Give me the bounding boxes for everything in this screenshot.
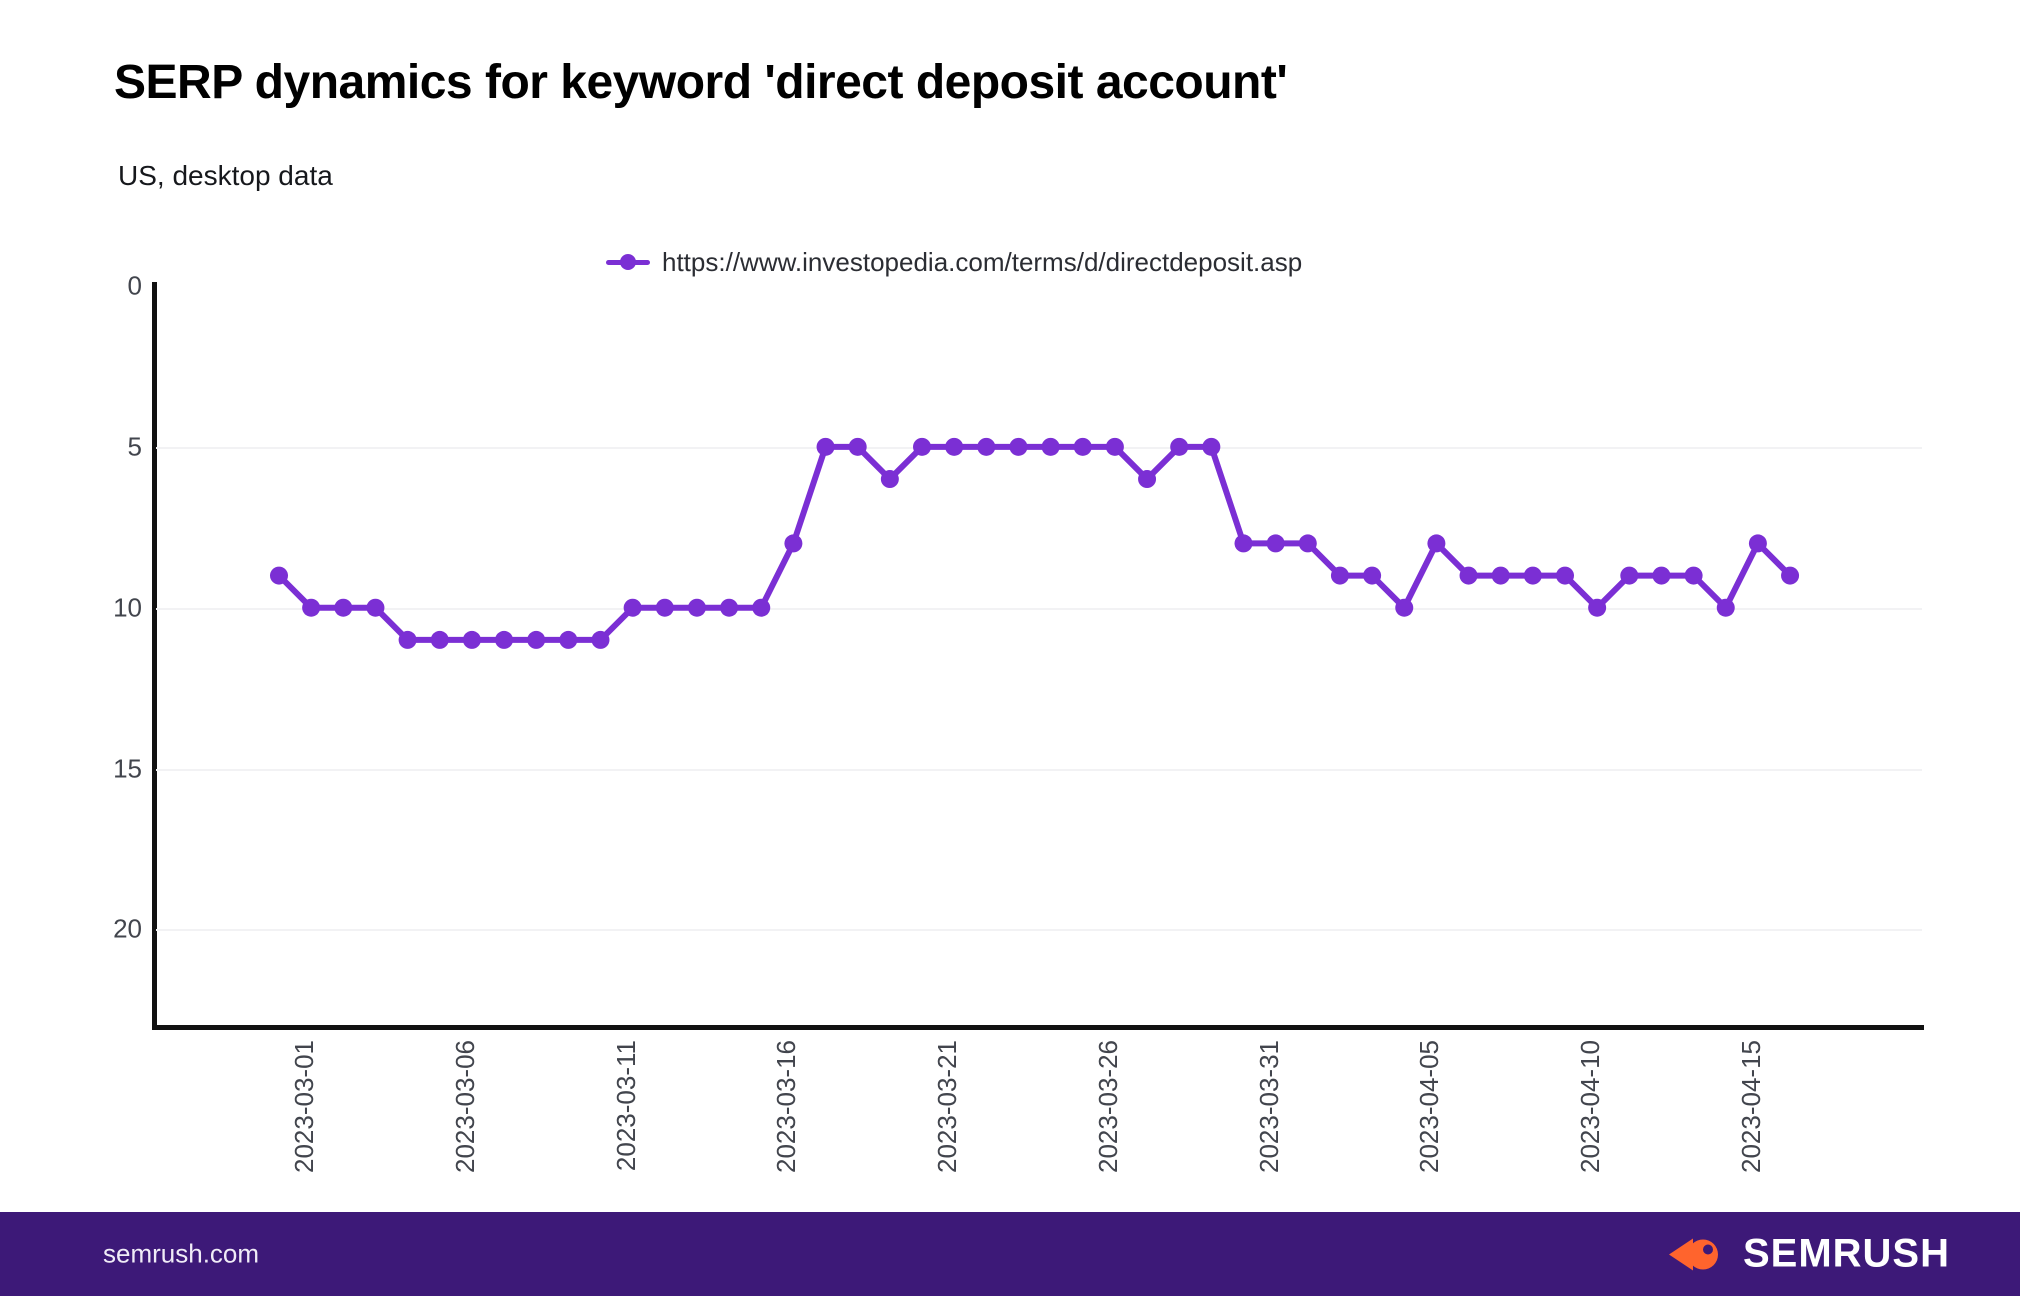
data-point[interactable] bbox=[399, 631, 417, 649]
data-point[interactable] bbox=[784, 534, 802, 552]
x-tick-label: 2023-03-01 bbox=[289, 1040, 320, 1173]
data-point[interactable] bbox=[463, 631, 481, 649]
data-point[interactable] bbox=[1749, 534, 1767, 552]
data-point[interactable] bbox=[720, 599, 738, 617]
semrush-wordmark: SEMRUSH bbox=[1743, 1232, 1950, 1277]
x-axis-tick-labels: 2023-03-012023-03-062023-03-112023-03-16… bbox=[156, 1040, 1922, 1230]
x-tick-label: 2023-03-21 bbox=[932, 1040, 963, 1173]
data-point[interactable] bbox=[1042, 438, 1060, 456]
data-point[interactable] bbox=[849, 438, 867, 456]
data-point[interactable] bbox=[1331, 567, 1349, 585]
x-tick-label: 2023-04-10 bbox=[1575, 1040, 1606, 1173]
series-line bbox=[279, 447, 1790, 640]
chart-subtitle: US, desktop data bbox=[118, 160, 333, 192]
data-point[interactable] bbox=[559, 631, 577, 649]
data-point[interactable] bbox=[1652, 567, 1670, 585]
data-point[interactable] bbox=[302, 599, 320, 617]
data-point[interactable] bbox=[817, 438, 835, 456]
series-line-chart bbox=[156, 286, 1922, 1026]
footer-bar: semrush.com SEMRUSH bbox=[0, 1212, 2020, 1296]
legend-marker-icon bbox=[606, 253, 650, 271]
data-point[interactable] bbox=[1781, 567, 1799, 585]
y-tick-label: 15 bbox=[72, 753, 142, 784]
data-point[interactable] bbox=[1074, 438, 1092, 456]
data-point[interactable] bbox=[1620, 567, 1638, 585]
data-point[interactable] bbox=[495, 631, 513, 649]
page-title: SERP dynamics for keyword 'direct deposi… bbox=[114, 55, 1287, 110]
data-point[interactable] bbox=[1556, 567, 1574, 585]
data-point[interactable] bbox=[977, 438, 995, 456]
data-point[interactable] bbox=[1460, 567, 1478, 585]
x-tick-label: 2023-04-15 bbox=[1736, 1040, 1767, 1173]
data-point[interactable] bbox=[624, 599, 642, 617]
data-point[interactable] bbox=[1299, 534, 1317, 552]
y-tick-label: 0 bbox=[72, 271, 142, 302]
data-point[interactable] bbox=[1138, 470, 1156, 488]
data-point[interactable] bbox=[752, 599, 770, 617]
data-point[interactable] bbox=[913, 438, 931, 456]
data-point[interactable] bbox=[1588, 599, 1606, 617]
footer-site-label: semrush.com bbox=[103, 1239, 259, 1270]
legend-item-label: https://www.investopedia.com/terms/d/dir… bbox=[662, 247, 1302, 278]
data-point[interactable] bbox=[1524, 567, 1542, 585]
x-tick-label: 2023-03-26 bbox=[1093, 1040, 1124, 1173]
x-tick-label: 2023-03-06 bbox=[450, 1040, 481, 1173]
data-point[interactable] bbox=[1395, 599, 1413, 617]
data-point[interactable] bbox=[527, 631, 545, 649]
x-tick-label: 2023-03-11 bbox=[611, 1040, 642, 1171]
data-point[interactable] bbox=[1106, 438, 1124, 456]
data-point[interactable] bbox=[1717, 599, 1735, 617]
data-point[interactable] bbox=[270, 567, 288, 585]
chart-legend: https://www.investopedia.com/terms/d/dir… bbox=[606, 245, 1302, 279]
data-point[interactable] bbox=[656, 599, 674, 617]
data-point[interactable] bbox=[1170, 438, 1188, 456]
x-tick-label: 2023-04-05 bbox=[1414, 1040, 1445, 1173]
data-point[interactable] bbox=[1685, 567, 1703, 585]
data-point[interactable] bbox=[1202, 438, 1220, 456]
y-tick-label: 20 bbox=[72, 914, 142, 945]
plot-area bbox=[156, 286, 1922, 1026]
data-point[interactable] bbox=[1427, 534, 1445, 552]
data-point[interactable] bbox=[1267, 534, 1285, 552]
semrush-comet-icon bbox=[1667, 1232, 1725, 1276]
x-axis-line bbox=[152, 1025, 1924, 1030]
data-point[interactable] bbox=[1009, 438, 1027, 456]
data-point[interactable] bbox=[431, 631, 449, 649]
data-point[interactable] bbox=[592, 631, 610, 649]
y-tick-label: 10 bbox=[72, 592, 142, 623]
data-point[interactable] bbox=[1363, 567, 1381, 585]
data-point[interactable] bbox=[688, 599, 706, 617]
data-point[interactable] bbox=[1492, 567, 1510, 585]
y-axis-tick-labels: 05101520 bbox=[62, 286, 142, 1026]
semrush-logo: SEMRUSH bbox=[1667, 1232, 1950, 1277]
data-point[interactable] bbox=[1235, 534, 1253, 552]
data-point[interactable] bbox=[945, 438, 963, 456]
x-tick-label: 2023-03-16 bbox=[771, 1040, 802, 1173]
x-tick-label: 2023-03-31 bbox=[1254, 1040, 1285, 1173]
data-point[interactable] bbox=[881, 470, 899, 488]
data-point[interactable] bbox=[334, 599, 352, 617]
chart-page: SERP dynamics for keyword 'direct deposi… bbox=[0, 0, 2020, 1296]
y-tick-label: 5 bbox=[72, 431, 142, 462]
data-point[interactable] bbox=[366, 599, 384, 617]
